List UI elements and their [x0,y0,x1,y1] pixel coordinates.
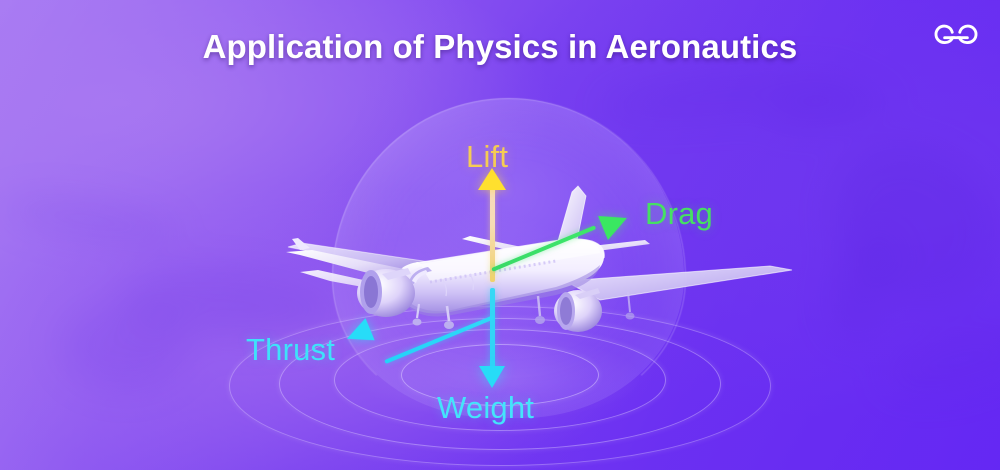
arrow-down-icon [479,366,505,388]
weight-arrow-shaft [490,288,495,370]
force-label-weight: Weight [437,390,534,426]
force-label-lift: Lift [466,139,508,175]
force-label-thrust: Thrust [246,332,335,368]
page-title: Application of Physics in Aeronautics [0,28,1000,66]
infographic-canvas: Lift Drag Thrust Weight Application of P… [0,0,1000,470]
geeksforgeeks-logo [934,19,978,53]
force-label-drag: Drag [645,196,713,232]
